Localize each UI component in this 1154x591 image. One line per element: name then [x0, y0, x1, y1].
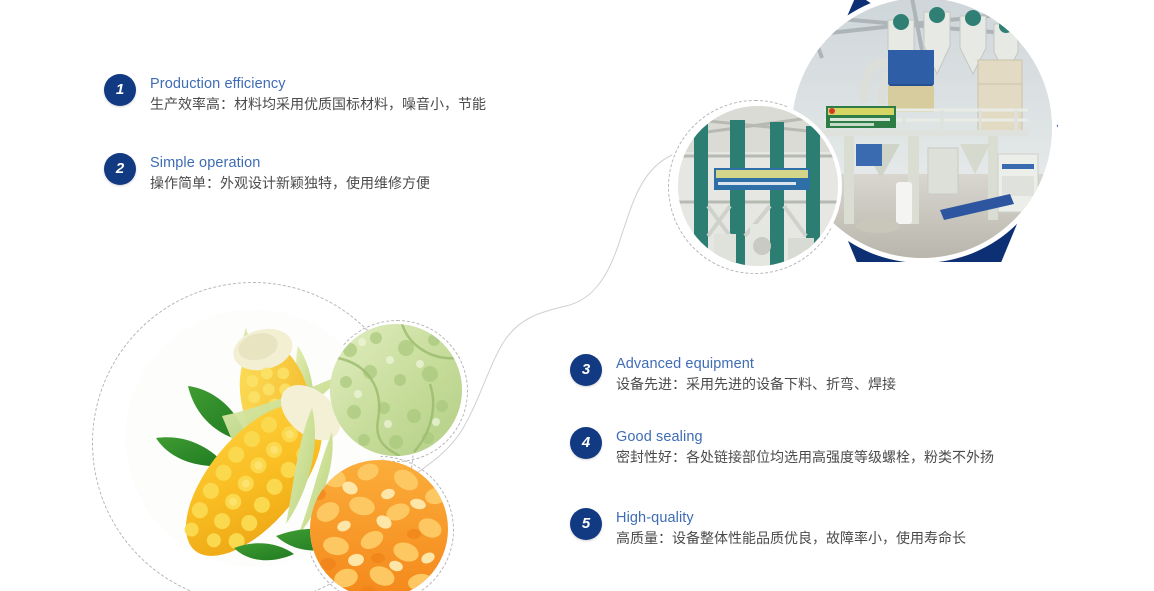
feature-badge-2: 2 — [104, 153, 136, 185]
feature-item-5[interactable]: 5 High-quality 高质量：设备整体性能品质优良，故障率小，使用寿命长 — [570, 508, 966, 550]
flour-mill-detail-photo — [678, 106, 838, 266]
feature-text-3: Advanced equipment 设备先进：采用先进的设备下料、折弯、焊接 — [616, 354, 896, 396]
feature-title-3: Advanced equipment — [616, 355, 896, 374]
feature-item-1[interactable]: 1 Production efficiency 生产效率高：材料均采用优质国标材… — [104, 74, 486, 116]
feature-desc-1: 生产效率高：材料均采用优质国标材料，噪音小，节能 — [150, 95, 486, 116]
feature-title-1: Production efficiency — [150, 75, 486, 94]
feature-title-5: High-quality — [616, 509, 966, 528]
feature-title-4: Good sealing — [616, 428, 994, 447]
feature-badge-1: 1 — [104, 74, 136, 106]
feature-item-4[interactable]: 4 Good sealing 密封性好：各处链接部位均选用高强度等级螺栓，粉类不… — [570, 427, 994, 469]
feature-item-2[interactable]: 2 Simple operation 操作简单：外观设计新颖独特，使用维修方便 — [104, 153, 430, 195]
feature-item-3[interactable]: 3 Advanced equipment 设备先进：采用先进的设备下料、折弯、焊… — [570, 354, 896, 396]
corn-flour-photo — [330, 324, 462, 456]
flour-mill-plant-photo — [792, 0, 1052, 258]
feature-text-1: Production efficiency 生产效率高：材料均采用优质国标材料，… — [150, 74, 486, 116]
corn-grits-photo — [310, 460, 448, 591]
feature-desc-2: 操作简单：外观设计新颖独特，使用维修方便 — [150, 174, 430, 195]
feature-badge-4: 4 — [570, 427, 602, 459]
corn-photo-group — [88, 278, 468, 591]
feature-text-2: Simple operation 操作简单：外观设计新颖独特，使用维修方便 — [150, 153, 430, 195]
feature-desc-4: 密封性好：各处链接部位均选用高强度等级螺栓，粉类不外扬 — [616, 448, 994, 469]
mill-photo-group — [660, 0, 1080, 284]
feature-desc-3: 设备先进：采用先进的设备下料、折弯、焊接 — [616, 375, 896, 396]
feature-badge-5: 5 — [570, 508, 602, 540]
feature-title-2: Simple operation — [150, 154, 430, 173]
feature-showcase-page: 1 Production efficiency 生产效率高：材料均采用优质国标材… — [0, 0, 1154, 591]
feature-desc-5: 高质量：设备整体性能品质优良，故障率小，使用寿命长 — [616, 529, 966, 550]
feature-text-4: Good sealing 密封性好：各处链接部位均选用高强度等级螺栓，粉类不外扬 — [616, 427, 994, 469]
feature-badge-3: 3 — [570, 354, 602, 386]
feature-text-5: High-quality 高质量：设备整体性能品质优良，故障率小，使用寿命长 — [616, 508, 966, 550]
